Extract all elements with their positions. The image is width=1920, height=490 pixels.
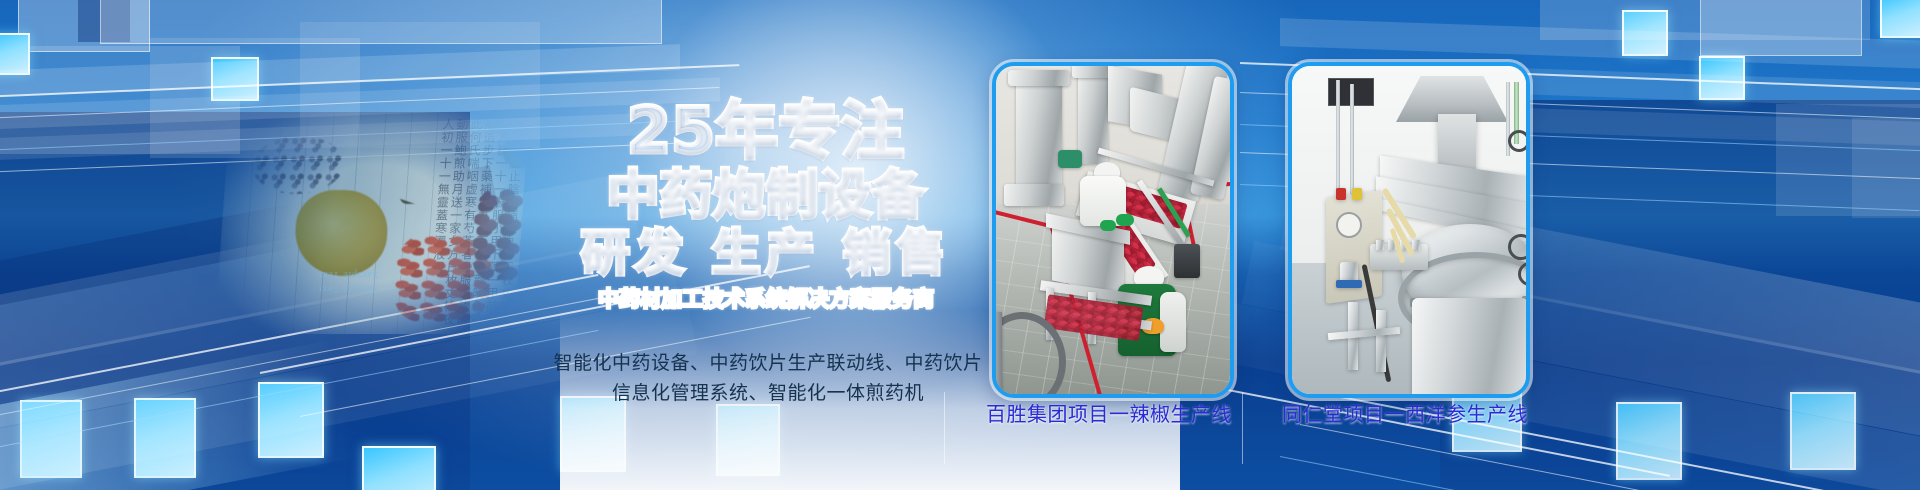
- trash-bin: [1174, 244, 1200, 278]
- headline-line-2-text: 中药炮制设备: [607, 166, 925, 226]
- wall-valve: [1508, 130, 1530, 152]
- herb-collage-image: 驅毒初起止陰丸補陰丸方日枚丈柏女夜人初一十一服服小甲下藥一甲前夜用這步下藥補陰丸…: [214, 112, 530, 334]
- vessel-valve: [1508, 234, 1530, 260]
- worker-glove: [1100, 220, 1116, 231]
- headline-tagline-text: 中药材加工技术系统解决方案服务商: [598, 287, 934, 311]
- bg-glow-square: [1790, 392, 1856, 470]
- panel-switch: [1352, 188, 1362, 200]
- foreground-pipe-straight: [992, 312, 1002, 398]
- photo-caption-1: 百胜集团项目一辣椒生产线: [959, 398, 1259, 427]
- photo-card-ginseng-line[interactable]: [1288, 62, 1530, 398]
- equipment-column-cap: [1008, 70, 1070, 86]
- bg-glow-square: [211, 57, 259, 101]
- bg-light-wedge: [0, 340, 355, 490]
- worker-apron: [1160, 292, 1186, 352]
- equipment-frame: [1004, 184, 1064, 206]
- bg-panel: [1700, 0, 1862, 56]
- bg-panel: [18, 0, 150, 52]
- bg-panel: [78, 0, 130, 42]
- manifold-port: [1412, 240, 1420, 250]
- panel-switch: [1336, 188, 1346, 200]
- frame-leg: [1376, 310, 1386, 372]
- pressure-gauge: [1336, 212, 1362, 238]
- collage-glass-sheen: [214, 112, 530, 334]
- bg-glow-square: [258, 382, 324, 458]
- american-ginseng-production-line-photo: [1292, 66, 1526, 394]
- headline-tagline: 中药材加工技术系统解决方案服务商: [556, 283, 976, 313]
- equipment-column: [1016, 76, 1062, 194]
- promo-banner: 驅毒初起止陰丸補陰丸方日枚丈柏女夜人初一十一服服小甲下藥一甲前夜用這步下藥補陰丸…: [0, 0, 1920, 490]
- bg-panel: [1776, 104, 1920, 216]
- vessel-body: [1412, 298, 1528, 394]
- headline-line-2: 中药炮制设备: [556, 170, 976, 222]
- photo-card-chili-line[interactable]: [992, 62, 1234, 398]
- air-fitting: [1336, 280, 1362, 288]
- bg-glow-square: [1880, 0, 1920, 38]
- bg-glow-square: [1622, 10, 1668, 56]
- headline-line-1-text: 25年专注: [627, 94, 904, 167]
- bg-panel: [1852, 118, 1920, 218]
- headline-line-3: 研发 生产 销售: [556, 229, 976, 277]
- manifold-port: [1376, 240, 1384, 250]
- bg-panel: [1540, 0, 1870, 40]
- chili-production-line-photo: [996, 66, 1230, 394]
- body-copy: 智能化中药设备、中药饮片生产联动线、中药饮片信息化管理系统、智能化一体煎药机: [548, 348, 988, 408]
- bg-glow-square: [20, 400, 82, 478]
- sample-watermark: Sample Text Sample Text: [318, 268, 378, 296]
- headline-line-3-text: 研发 生产 销售: [581, 225, 950, 281]
- headline-block: 25年专注 中药炮制设备 研发 生产 销售 中药材加工技术系统解决方案服务商: [556, 100, 976, 313]
- worker-glove: [1116, 214, 1134, 226]
- bg-glow-square: [0, 33, 30, 75]
- bg-glow-square: [1616, 402, 1682, 480]
- bg-panel: [0, 46, 240, 154]
- bg-panel: [100, 0, 662, 44]
- headline-line-1: 25年专注: [556, 100, 976, 162]
- equipment-motor: [1058, 150, 1082, 168]
- bg-sheet: [0, 44, 680, 98]
- bg-glow-square: [716, 404, 780, 476]
- photo-caption-2: 同仁堂项目一西洋参生产线: [1255, 398, 1555, 427]
- bg-glow-square: [362, 446, 436, 490]
- bg-glow-square: [1699, 56, 1745, 100]
- bg-glow-square: [134, 398, 196, 478]
